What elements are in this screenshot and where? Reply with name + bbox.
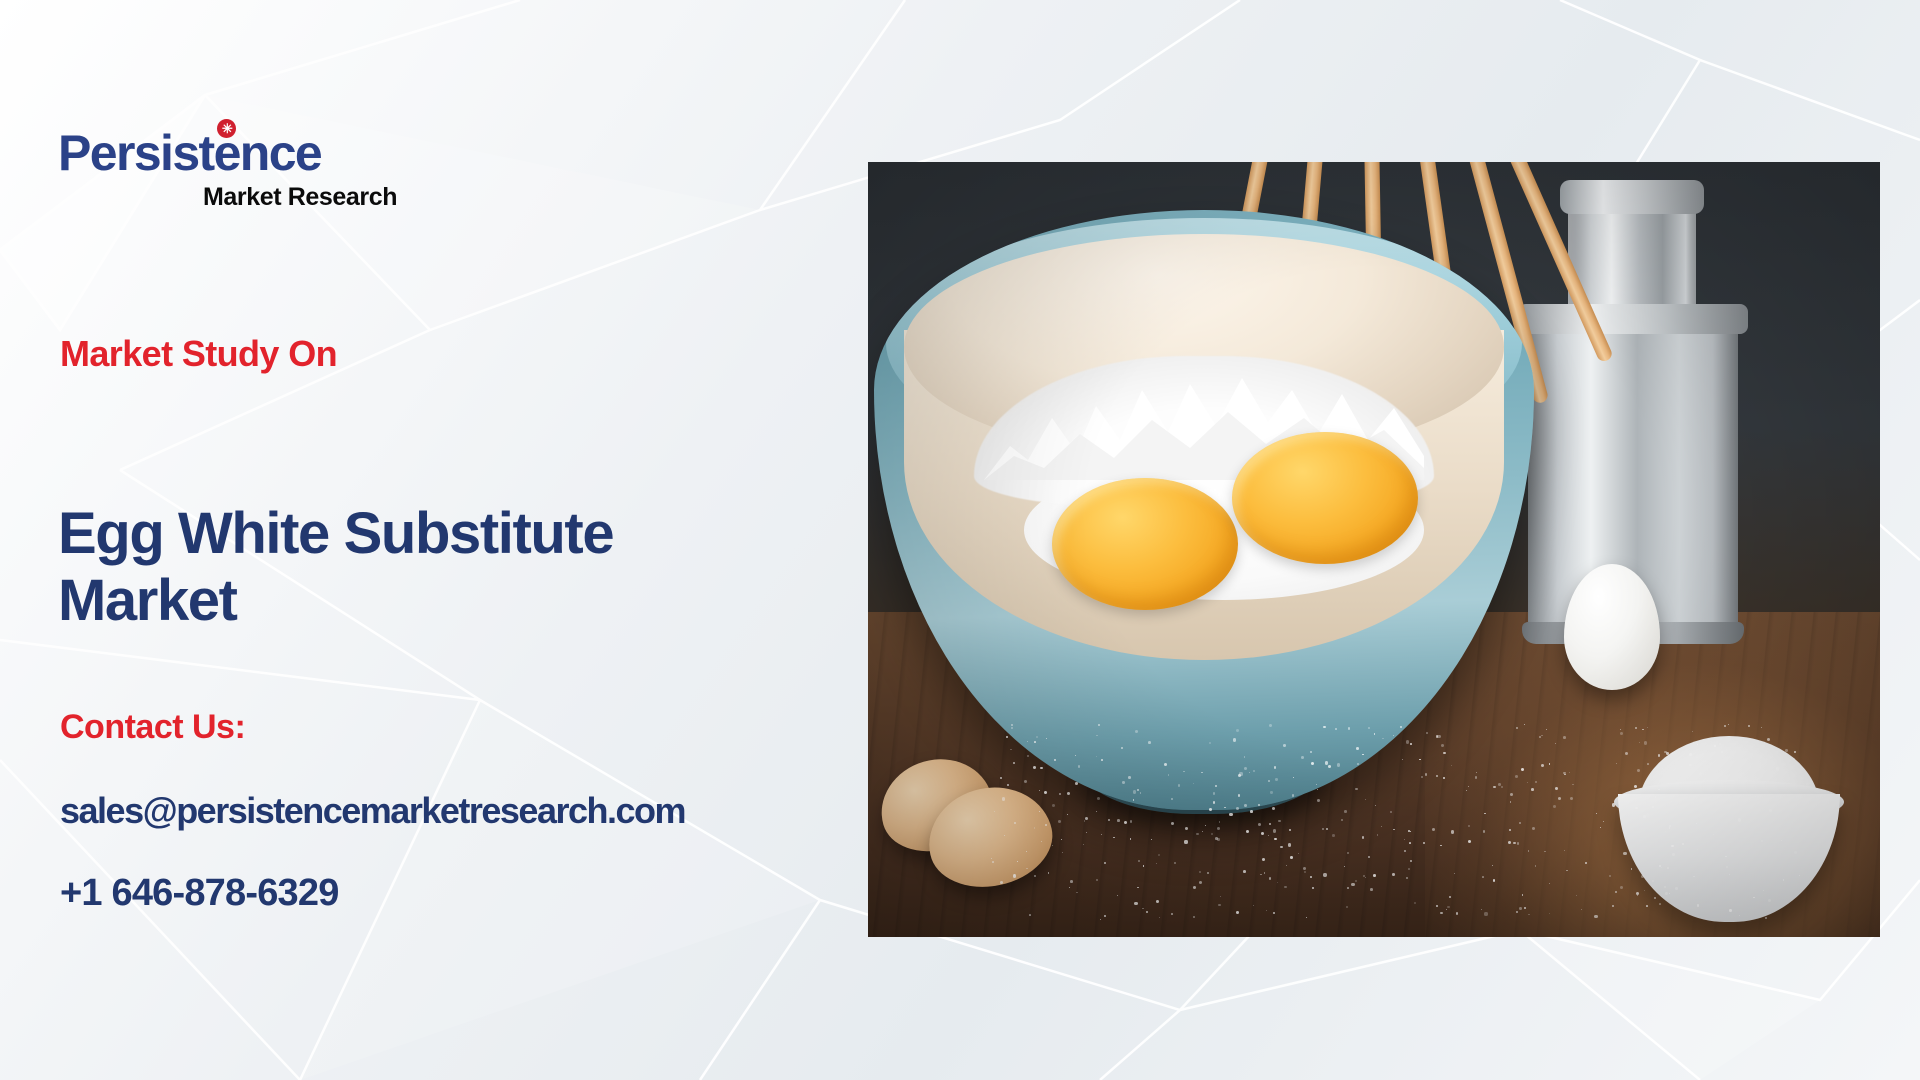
flour-bowl [1604,740,1854,922]
brand-logo-text: Persistence [58,125,321,181]
contact-us-label: Contact Us: [60,708,245,747]
eyebrow-text: Market Study On [60,334,337,374]
poster-canvas: Persistence ✳ Market Research Market Stu… [0,0,1920,1080]
hero-image-scene [868,162,1880,937]
page-title: Egg White Substitute Market [58,501,798,634]
egg-yolk [1232,432,1418,564]
brand-logo-subtitle: Market Research [203,185,458,210]
brand-logo: Persistence ✳ Market Research [58,128,458,210]
contact-phone[interactable]: +1 646-878-6329 [60,872,339,915]
star-icon: ✳ [222,122,231,135]
hero-image [868,162,1880,937]
flour-bowl-body [1618,794,1840,922]
brand-logo-star-dot-icon: ✳ [217,119,236,138]
brand-logo-wordmark: Persistence ✳ [58,128,321,178]
egg-yolk [1052,478,1238,610]
contact-email[interactable]: sales@persistencemarketresearch.com [60,790,685,832]
left-content-column: Persistence ✳ Market Research Market Stu… [0,0,860,1080]
